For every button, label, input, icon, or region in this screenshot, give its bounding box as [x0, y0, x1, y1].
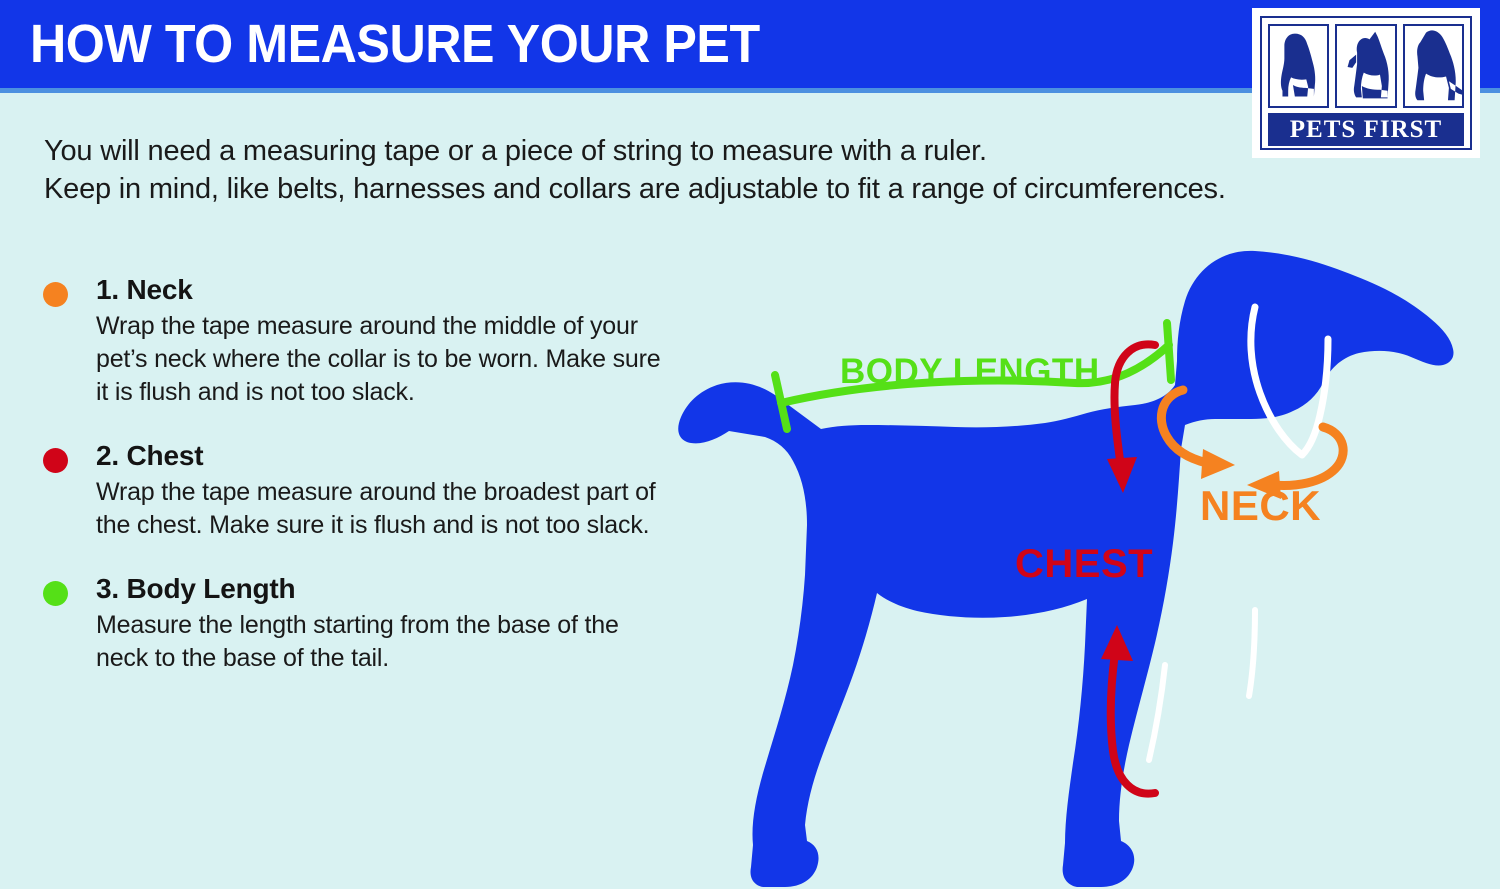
body-length-label: BODY LENGTH [840, 352, 1100, 391]
chest-label: CHEST [1015, 542, 1153, 586]
dog-measurement-diagram: BODY LENGTH NECK CHEST [655, 245, 1500, 889]
dog-hind-leg-separation [1249, 610, 1255, 696]
step-item-body-length: 3. Body Length Measure the length starti… [40, 571, 680, 675]
dog-front-leg-separation [1149, 665, 1165, 760]
step-body-body-length: Measure the length starting from the bas… [96, 609, 676, 675]
intro-text: You will need a measuring tape or a piec… [44, 132, 1334, 208]
step-item-neck: 1. Neck Wrap the tape measure around the… [40, 272, 680, 409]
measurement-steps-list: 1. Neck Wrap the tape measure around the… [40, 272, 680, 704]
dog-standing-silhouette-icon [1403, 24, 1464, 108]
neck-arrowhead-left [1201, 449, 1235, 479]
step-body-chest: Wrap the tape measure around the broades… [96, 476, 676, 542]
dog-begging-silhouette-icon [1335, 24, 1396, 108]
step-title-chest: 2. Chest [96, 438, 680, 474]
step-body-neck: Wrap the tape measure around the middle … [96, 310, 676, 409]
step-bullet-neck [43, 282, 68, 307]
logo-tile-row [1268, 24, 1464, 108]
page-title: HOW TO MEASURE YOUR PET [30, 14, 760, 74]
intro-line-1: You will need a measuring tape or a piec… [44, 132, 1334, 170]
step-item-chest: 2. Chest Wrap the tape measure around th… [40, 438, 680, 542]
step-bullet-body-length [43, 581, 68, 606]
neck-label: NECK [1200, 482, 1321, 529]
dog-sitting-silhouette-icon [1268, 24, 1329, 108]
step-title-body-length: 3. Body Length [96, 571, 680, 607]
infographic-page: HOW TO MEASURE YOUR PET [0, 0, 1500, 889]
logo-frame: PETS FIRST [1260, 16, 1472, 150]
intro-line-2: Keep in mind, like belts, harnesses and … [44, 170, 1334, 208]
step-title-neck: 1. Neck [96, 272, 680, 308]
step-bullet-chest [43, 448, 68, 473]
